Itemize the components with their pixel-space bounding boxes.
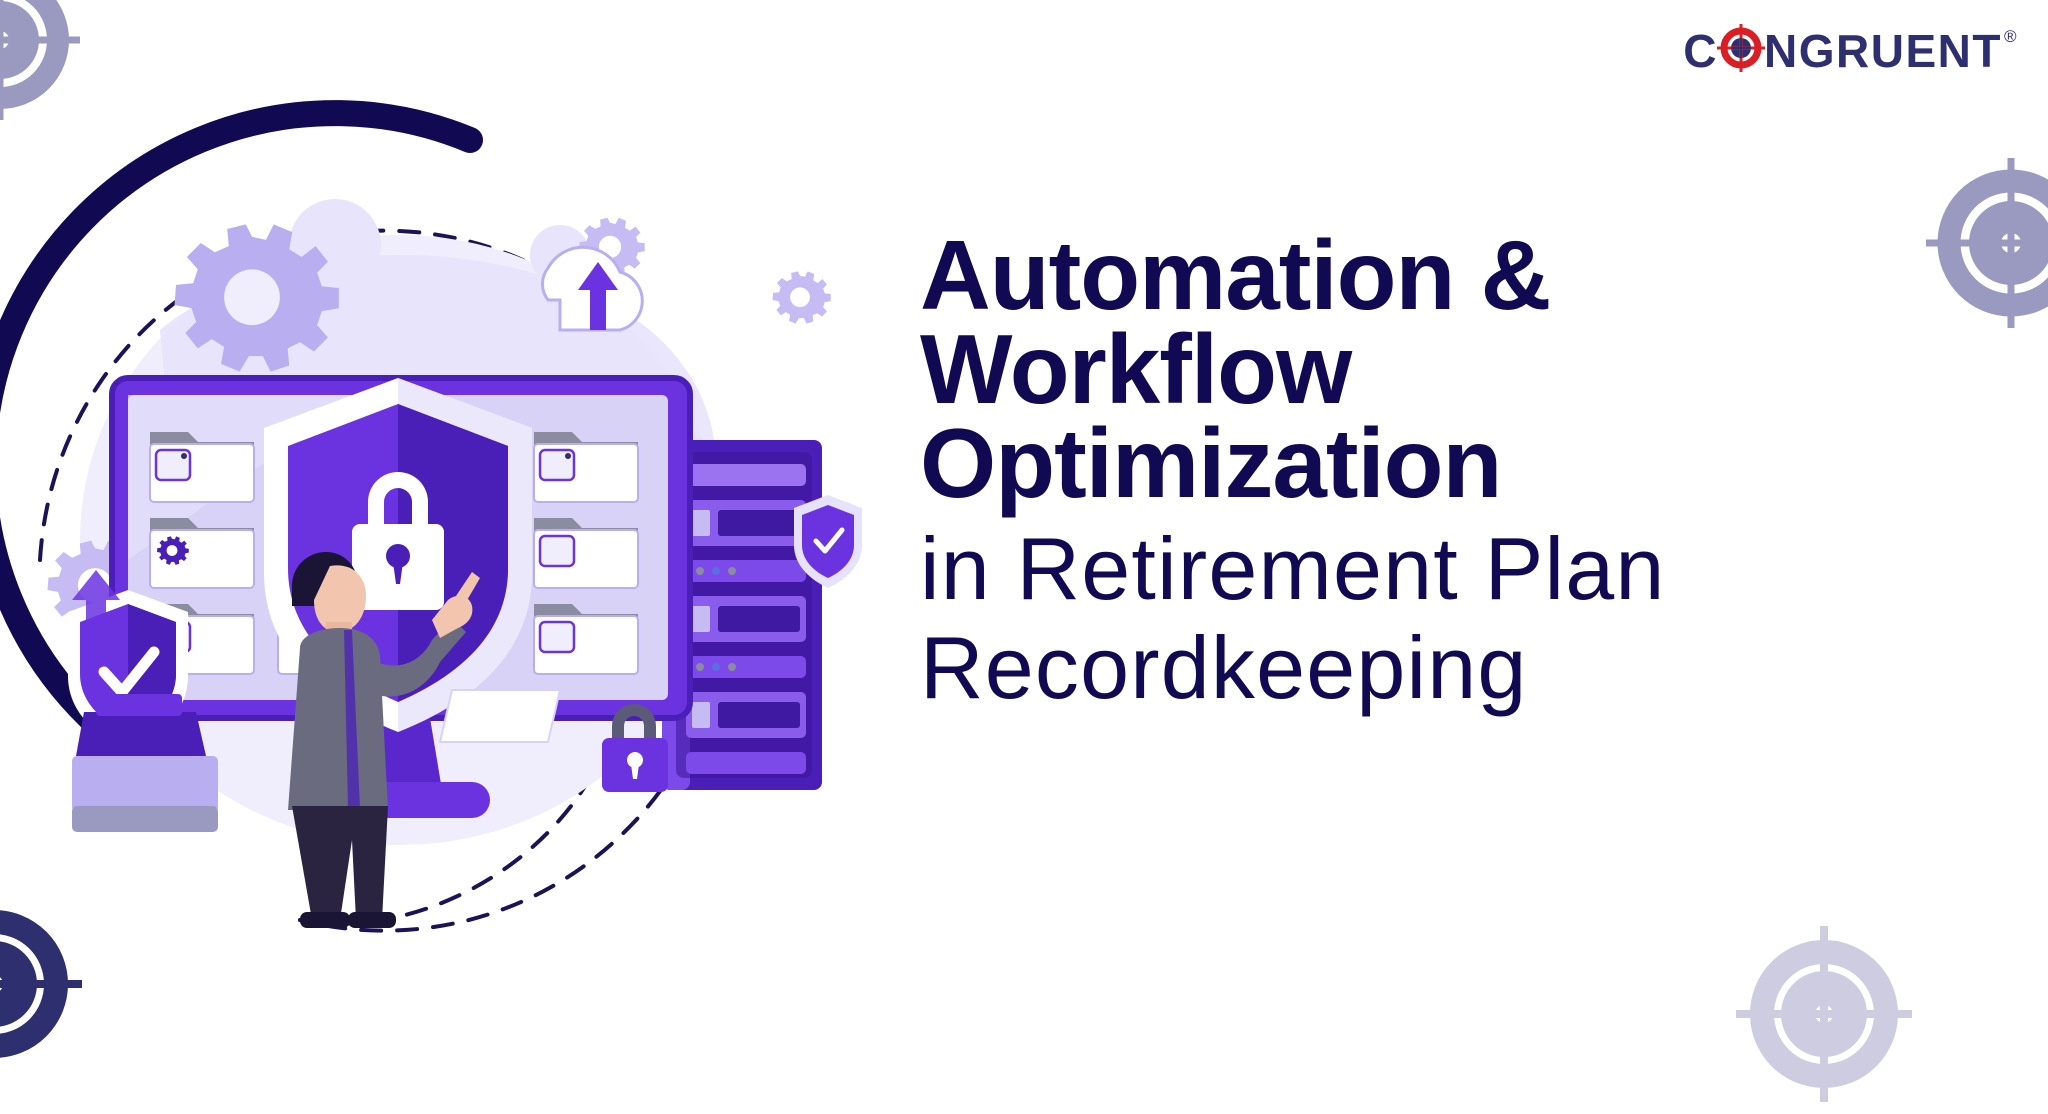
shoe-left	[300, 912, 350, 928]
folder-item	[534, 432, 638, 502]
subheadline-line-2: Recordkeeping	[920, 619, 2010, 718]
logo-letter-c: C	[1683, 28, 1718, 74]
folder-item	[534, 518, 638, 588]
marketing-banner: C NGRUENT ®	[0, 0, 2048, 1060]
crosshair-logo-icon	[1716, 23, 1766, 80]
gear-tiny-topright-icon	[773, 271, 831, 323]
subheadline-line-1: in Retirement Plan	[920, 520, 2010, 619]
illustration-canvas	[0, 0, 900, 1060]
filing-tray	[72, 694, 218, 832]
hero-illustration	[0, 0, 900, 1060]
headline-block: Automation & Workflow Optimization in Re…	[920, 228, 2010, 717]
subheadline-block: in Retirement Plan Recordkeeping	[920, 520, 2010, 717]
headline-line-1: Automation &	[920, 228, 2010, 322]
folder-item	[534, 604, 638, 674]
registered-trademark-symbol: ®	[2004, 28, 2018, 45]
folder-item	[150, 518, 254, 588]
crosshair-bottom-right-icon	[1724, 914, 1924, 1114]
logo-wordmark: C NGRUENT ®	[1683, 22, 2016, 79]
legs	[292, 806, 388, 920]
paper-sheet	[440, 690, 560, 742]
congruent-logo[interactable]: C NGRUENT ®	[1683, 22, 2016, 79]
torso	[288, 628, 388, 810]
logo-letters-rest: NGRUENT	[1764, 28, 2002, 74]
headline-line-3: Optimization	[920, 416, 2010, 510]
server-units	[686, 464, 806, 774]
headline-line-2: Workflow	[920, 322, 2010, 416]
shoe-right	[348, 912, 396, 928]
folder-item	[150, 432, 254, 502]
